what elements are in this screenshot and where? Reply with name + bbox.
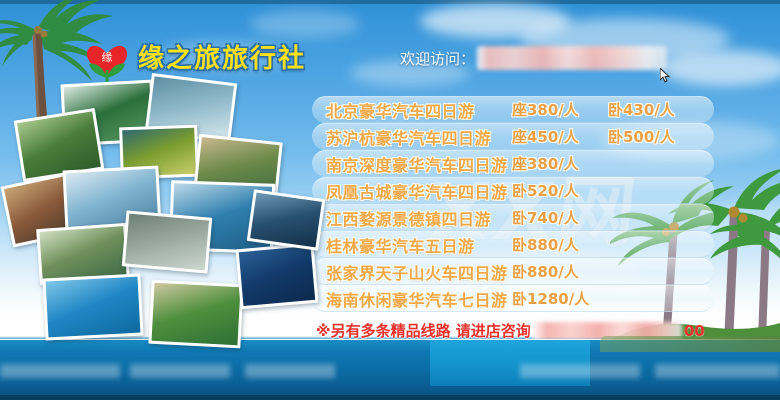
tour-name: 凤凰古城豪华汽车四日游: [312, 179, 508, 203]
tour-row[interactable]: 张家界天子山火车四日游卧880/人: [312, 258, 714, 285]
pool-photo: [42, 273, 143, 340]
tour-price-primary: 座450/人: [512, 126, 608, 147]
photo-image: [39, 226, 126, 282]
ocean-blur-region: [130, 364, 230, 378]
tour-price-group: 卧880/人: [512, 234, 714, 255]
top-strip: [0, 0, 780, 4]
tour-name: 苏沪杭豪华汽车四日游: [312, 125, 491, 149]
shore-vegetation: [600, 336, 780, 352]
tour-price-primary: 卧880/人: [512, 234, 608, 255]
tour-row[interactable]: 凤凰古城豪华汽车四日游卧520/人: [312, 177, 714, 204]
tour-row[interactable]: 北京豪华汽车四日游座380/人卧430/人: [312, 96, 714, 123]
tour-name: 北京豪华汽车四日游: [312, 98, 475, 122]
beach-palm-photo: [148, 280, 243, 349]
tour-price-primary: 卧740/人: [512, 207, 608, 228]
logo-heart-char: 缘: [102, 51, 113, 64]
heart-leaf-logo-icon: 缘: [84, 30, 130, 82]
welcome-label: 欢迎访问：: [400, 48, 475, 69]
ocean-highlight: [430, 340, 590, 386]
brand-logo: 缘 缘之旅旅行社: [84, 30, 306, 82]
night-photo: [247, 189, 326, 251]
cloud-decor: [660, 50, 780, 86]
cloud-decor: [420, 4, 570, 38]
tour-price-group: 卧520/人: [512, 180, 714, 201]
tour-row[interactable]: 江西婺源景德镇四日游卧740/人: [312, 204, 714, 231]
tour-list: 北京豪华汽车四日游座380/人卧430/人苏沪杭豪华汽车四日游座450/人卧50…: [312, 96, 714, 312]
travel-agency-poster: XX网: [0, 0, 780, 400]
bottom-strip: [0, 395, 780, 400]
notice-text: ※另有多条精品线路 请进店咨询: [316, 320, 531, 341]
tour-price-group: 卧740/人: [512, 207, 714, 228]
tour-price-primary: 座380/人: [512, 99, 608, 120]
tour-name: 张家界天子山火车四日游: [312, 260, 508, 284]
photo-image: [250, 193, 322, 248]
tour-price-primary: 卧520/人: [512, 180, 608, 201]
tour-price-secondary: 卧430/人: [608, 99, 708, 120]
tour-price-primary: 卧1280/人: [512, 288, 608, 309]
ocean-blur-region: [0, 364, 120, 378]
photo-image: [46, 277, 141, 338]
ocean-blur-region: [655, 364, 780, 378]
tour-price-secondary: 卧500/人: [608, 126, 708, 147]
lighthouse-photo: [236, 243, 319, 310]
tour-price-group: 卧880/人: [512, 261, 714, 282]
brand-name: 缘之旅旅行社: [138, 38, 306, 75]
redacted-website-value: [477, 46, 667, 70]
tour-row[interactable]: 桂林豪华汽车五日游卧880/人: [312, 231, 714, 258]
photo-image: [152, 283, 241, 345]
tour-name: 桂林豪华汽车五日游: [312, 233, 475, 257]
tour-name: 南京深度豪华汽车四日游: [312, 152, 508, 176]
tour-name: 江西婺源景德镇四日游: [312, 206, 491, 230]
tour-price-group: 座380/人: [512, 153, 714, 174]
tour-price-group: 座380/人卧430/人: [512, 99, 714, 120]
ocean-blur-region: [245, 364, 335, 378]
ocean-blur-region: [520, 364, 640, 378]
tour-price-primary: 卧880/人: [512, 261, 608, 282]
tour-row[interactable]: 南京深度豪华汽车四日游座380/人: [312, 150, 714, 177]
photo-collage: [0, 86, 320, 366]
tour-row[interactable]: 苏沪杭豪华汽车四日游座450/人卧500/人: [312, 123, 714, 150]
photo-image: [239, 246, 315, 306]
photo-image: [125, 214, 209, 271]
mouse-cursor-icon: [660, 68, 671, 83]
welcome-area: 欢迎访问：: [400, 46, 667, 70]
tour-price-primary: 座380/人: [512, 153, 608, 174]
stone-bridge-photo: [122, 210, 213, 273]
tour-name: 海南休闲豪华汽车七日游: [312, 287, 508, 311]
tour-price-group: 卧1280/人: [512, 288, 714, 309]
tour-price-group: 座450/人卧500/人: [512, 126, 714, 147]
tour-row[interactable]: 海南休闲豪华汽车七日游卧1280/人: [312, 285, 714, 312]
